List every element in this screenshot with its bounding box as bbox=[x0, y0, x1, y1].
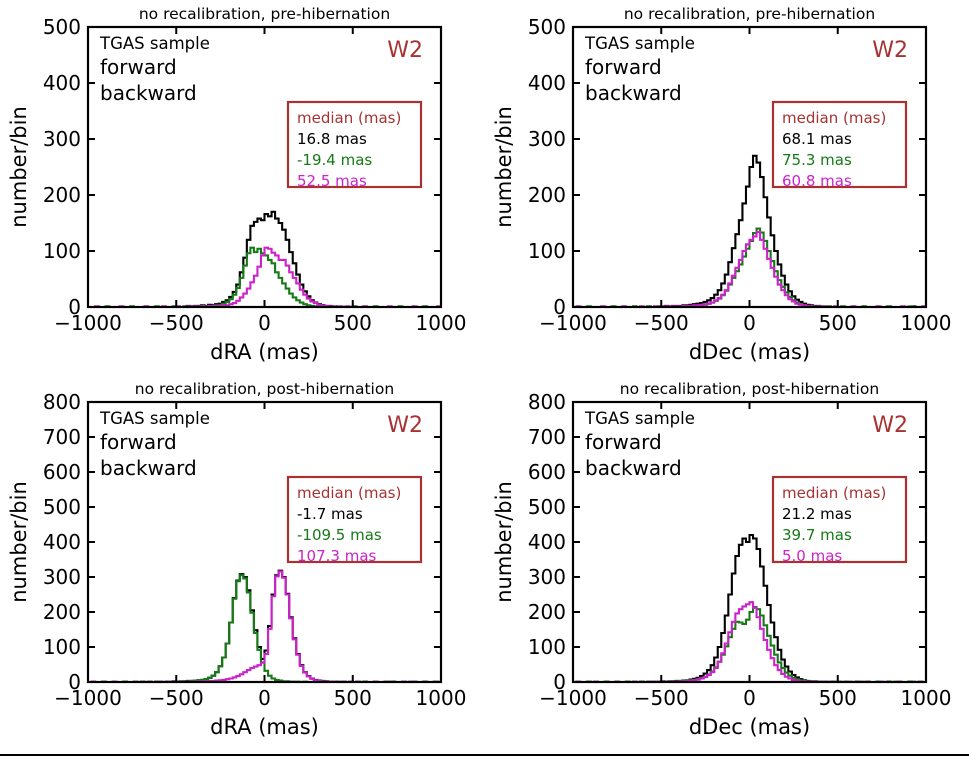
x-tick-label: 1000 bbox=[416, 311, 467, 335]
series-group bbox=[573, 156, 926, 307]
median-value-forward: -19.4 mas bbox=[297, 151, 372, 169]
x-axis-label: dDec (mas) bbox=[689, 715, 810, 739]
panel-title: no recalibration, pre-hibernation bbox=[624, 5, 875, 23]
y-tick-label: 500 bbox=[43, 495, 81, 519]
median-value-forward: -109.5 mas bbox=[297, 526, 382, 544]
series-group bbox=[88, 571, 441, 682]
y-tick-label: 0 bbox=[553, 670, 566, 694]
y-tick-label: 500 bbox=[43, 15, 81, 39]
figure-bottom-rule bbox=[0, 754, 969, 756]
histogram-plot-top-left: no recalibration, pre-hibernation−1000−5… bbox=[0, 0, 484, 372]
histogram-series-total bbox=[573, 156, 926, 307]
series-group bbox=[88, 212, 441, 307]
histogram-series-forward bbox=[573, 607, 926, 682]
x-tick-label: 1000 bbox=[901, 686, 952, 710]
x-tick-label: −1000 bbox=[54, 686, 122, 710]
x-axis-label: dRA (mas) bbox=[210, 715, 319, 739]
y-tick-label: 500 bbox=[528, 495, 566, 519]
x-tick-label: 500 bbox=[819, 686, 857, 710]
x-axis-label: dDec (mas) bbox=[689, 340, 810, 364]
x-tick-label: −500 bbox=[149, 686, 204, 710]
y-tick-label: 100 bbox=[43, 239, 81, 263]
median-box-header: median (mas) bbox=[297, 109, 401, 127]
histogram-plot-bottom-right: no recalibration, post-hibernation−1000−… bbox=[485, 375, 969, 747]
y-tick-label: 700 bbox=[528, 425, 566, 449]
median-value-backward: 107.3 mas bbox=[297, 547, 377, 565]
x-tick-label: 0 bbox=[743, 686, 756, 710]
median-value-total: 16.8 mas bbox=[297, 130, 367, 148]
x-tick-label: 1000 bbox=[416, 686, 467, 710]
chart-panel-bottom-left: no recalibration, post-hibernation−1000−… bbox=[0, 375, 484, 747]
median-box-header: median (mas) bbox=[297, 484, 401, 502]
median-value-backward: 5.0 mas bbox=[782, 547, 842, 565]
y-tick-label: 300 bbox=[528, 565, 566, 589]
histogram-plot-bottom-left: no recalibration, post-hibernation−1000−… bbox=[0, 375, 484, 747]
y-tick-label: 400 bbox=[528, 71, 566, 95]
y-tick-label: 200 bbox=[43, 183, 81, 207]
panel-title: no recalibration, pre-hibernation bbox=[139, 5, 390, 23]
x-tick-label: 0 bbox=[258, 311, 271, 335]
x-tick-label: −1000 bbox=[54, 311, 122, 335]
y-tick-label: 0 bbox=[553, 295, 566, 319]
median-box-header: median (mas) bbox=[782, 484, 886, 502]
x-tick-label: −500 bbox=[634, 311, 689, 335]
y-tick-label: 600 bbox=[43, 460, 81, 484]
figure-container: no recalibration, pre-hibernation−1000−5… bbox=[0, 0, 969, 759]
band-label: W2 bbox=[387, 38, 423, 63]
x-axis-label: dRA (mas) bbox=[210, 340, 319, 364]
y-tick-label: 300 bbox=[43, 565, 81, 589]
histogram-series-backward bbox=[88, 248, 441, 307]
y-tick-label: 800 bbox=[43, 390, 81, 414]
median-value-total: -1.7 mas bbox=[297, 505, 363, 523]
median-value-backward: 52.5 mas bbox=[297, 172, 367, 190]
band-label: W2 bbox=[872, 38, 908, 63]
chart-panel-top-left: no recalibration, pre-hibernation−1000−5… bbox=[0, 0, 484, 372]
y-tick-label: 700 bbox=[43, 425, 81, 449]
y-tick-label: 400 bbox=[43, 530, 81, 554]
x-tick-label: 500 bbox=[334, 686, 372, 710]
y-tick-label: 200 bbox=[528, 600, 566, 624]
x-tick-label: −500 bbox=[149, 311, 204, 335]
median-value-total: 21.2 mas bbox=[782, 505, 852, 523]
legend-label-total: TGAS sample bbox=[584, 409, 695, 428]
y-axis-label: number/bin bbox=[492, 481, 516, 603]
legend-label-forward: forward bbox=[100, 55, 177, 79]
legend-label-total: TGAS sample bbox=[584, 34, 695, 53]
x-tick-label: −1000 bbox=[539, 686, 607, 710]
panel-title: no recalibration, post-hibernation bbox=[135, 380, 394, 398]
panel-title: no recalibration, post-hibernation bbox=[620, 380, 879, 398]
legend-label-backward: backward bbox=[100, 81, 197, 105]
x-tick-label: 500 bbox=[819, 311, 857, 335]
histogram-series-forward bbox=[88, 575, 441, 682]
legend-label-backward: backward bbox=[100, 456, 197, 480]
median-value-backward: 60.8 mas bbox=[782, 172, 852, 190]
x-tick-label: 0 bbox=[743, 311, 756, 335]
y-tick-label: 300 bbox=[43, 127, 81, 151]
legend-label-backward: backward bbox=[585, 81, 682, 105]
legend-label-forward: forward bbox=[585, 55, 662, 79]
legend-label-total: TGAS sample bbox=[99, 34, 210, 53]
legend-label-forward: forward bbox=[585, 430, 662, 454]
y-tick-label: 200 bbox=[43, 600, 81, 624]
x-tick-label: 500 bbox=[334, 311, 372, 335]
median-value-forward: 39.7 mas bbox=[782, 526, 852, 544]
histogram-series-total bbox=[573, 535, 926, 682]
y-tick-label: 300 bbox=[528, 127, 566, 151]
legend-label-backward: backward bbox=[585, 456, 682, 480]
median-value-forward: 75.3 mas bbox=[782, 151, 852, 169]
chart-panel-bottom-right: no recalibration, post-hibernation−1000−… bbox=[485, 375, 969, 747]
y-tick-label: 400 bbox=[43, 71, 81, 95]
histogram-series-backward bbox=[573, 232, 926, 307]
y-tick-label: 800 bbox=[528, 390, 566, 414]
band-label: W2 bbox=[387, 413, 423, 438]
median-box-header: median (mas) bbox=[782, 109, 886, 127]
y-tick-label: 600 bbox=[528, 460, 566, 484]
y-tick-label: 0 bbox=[68, 295, 81, 319]
median-value-total: 68.1 mas bbox=[782, 130, 852, 148]
histogram-plot-top-right: no recalibration, pre-hibernation−1000−5… bbox=[485, 0, 969, 372]
series-group bbox=[573, 535, 926, 682]
y-axis-label: number/bin bbox=[492, 106, 516, 228]
band-label: W2 bbox=[872, 413, 908, 438]
y-axis-label: number/bin bbox=[7, 106, 31, 228]
x-tick-label: −1000 bbox=[539, 311, 607, 335]
legend-label-total: TGAS sample bbox=[99, 409, 210, 428]
chart-panel-top-right: no recalibration, pre-hibernation−1000−5… bbox=[485, 0, 969, 372]
histogram-series-forward bbox=[88, 248, 441, 307]
y-tick-label: 500 bbox=[528, 15, 566, 39]
y-tick-label: 200 bbox=[528, 183, 566, 207]
x-tick-label: −500 bbox=[634, 686, 689, 710]
y-axis-label: number/bin bbox=[7, 481, 31, 603]
y-tick-label: 100 bbox=[43, 635, 81, 659]
histogram-series-total bbox=[88, 212, 441, 307]
x-tick-label: 1000 bbox=[901, 311, 952, 335]
legend-label-forward: forward bbox=[100, 430, 177, 454]
y-tick-label: 100 bbox=[528, 239, 566, 263]
y-tick-label: 0 bbox=[68, 670, 81, 694]
y-tick-label: 100 bbox=[528, 635, 566, 659]
x-tick-label: 0 bbox=[258, 686, 271, 710]
y-tick-label: 400 bbox=[528, 530, 566, 554]
